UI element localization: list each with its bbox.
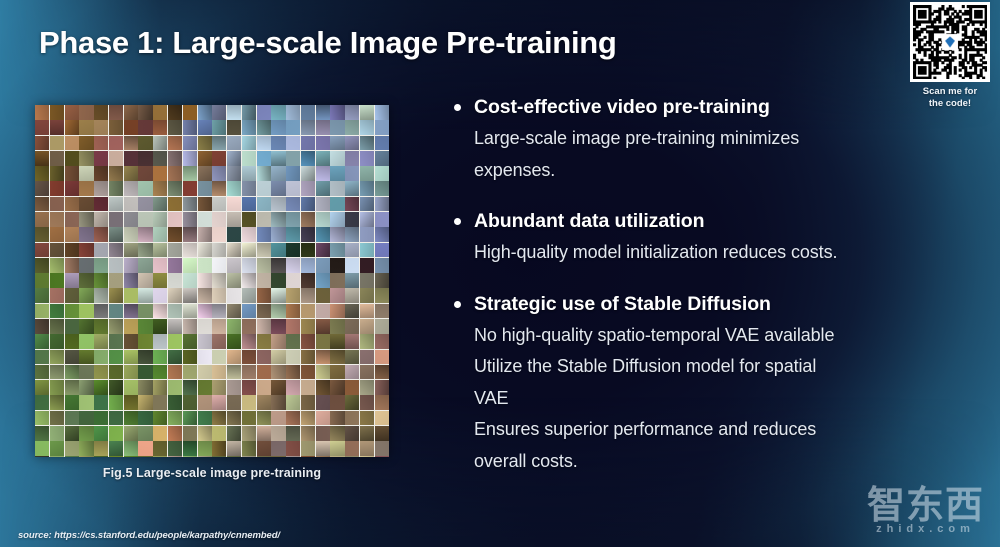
mosaic-thumbnail — [50, 166, 64, 181]
mosaic-thumbnail — [227, 365, 241, 380]
mosaic-thumbnail — [375, 456, 389, 457]
mosaic-thumbnail — [330, 350, 344, 365]
mosaic-thumbnail — [316, 288, 330, 303]
mosaic-thumbnail — [168, 441, 182, 456]
mosaic-thumbnail — [65, 243, 79, 258]
mosaic-thumbnail — [271, 304, 285, 319]
mosaic-thumbnail — [65, 334, 79, 349]
mosaic-thumbnail — [183, 319, 197, 334]
mosaic-thumbnail — [183, 334, 197, 349]
mosaic-thumbnail — [153, 334, 167, 349]
mosaic-thumbnail — [168, 365, 182, 380]
mosaic-thumbnail — [360, 197, 374, 212]
mosaic-thumbnail — [212, 426, 226, 441]
mosaic-thumbnail — [375, 258, 389, 273]
qr-caption-line-1: Scan me for — [906, 86, 994, 98]
mosaic-thumbnail — [109, 395, 123, 410]
mosaic-thumbnail — [360, 441, 374, 456]
mosaic-thumbnail — [35, 258, 49, 273]
mosaic-thumbnail — [153, 120, 167, 135]
mosaic-thumbnail — [345, 426, 359, 441]
mosaic-thumbnail — [153, 319, 167, 334]
mosaic-thumbnail — [212, 243, 226, 258]
mosaic-thumbnail — [227, 243, 241, 258]
mosaic-thumbnail — [212, 197, 226, 212]
mosaic-thumbnail — [168, 105, 182, 120]
mosaic-thumbnail — [375, 319, 389, 334]
mosaic-thumbnail — [360, 380, 374, 395]
mosaic-thumbnail — [65, 395, 79, 410]
mosaic-thumbnail — [286, 411, 300, 426]
mosaic-thumbnail — [183, 288, 197, 303]
mosaic-thumbnail — [94, 288, 108, 303]
mosaic-thumbnail — [271, 151, 285, 166]
mosaic-thumbnail — [330, 136, 344, 151]
mosaic-thumbnail — [375, 334, 389, 349]
mosaic-thumbnail — [79, 151, 93, 166]
figure-caption: Fig.5 Large-scale image pre-training — [35, 466, 389, 480]
bullet-body-line: overall costs. — [452, 446, 972, 478]
mosaic-thumbnail — [271, 411, 285, 426]
mosaic-thumbnail — [65, 350, 79, 365]
mosaic-thumbnail — [330, 227, 344, 242]
bullet-heading-text: Strategic use of Stable Diffusion — [474, 293, 771, 315]
qr-code-card[interactable] — [910, 2, 990, 82]
mosaic-thumbnail — [138, 258, 152, 273]
mosaic-thumbnail — [35, 212, 49, 227]
mosaic-thumbnail — [50, 105, 64, 120]
mosaic-thumbnail — [183, 380, 197, 395]
mosaic-thumbnail — [286, 181, 300, 196]
mosaic-thumbnail — [79, 105, 93, 120]
mosaic-thumbnail — [153, 181, 167, 196]
bullet-heading: Strategic use of Stable Diffusion — [452, 291, 972, 317]
mosaic-thumbnail — [35, 288, 49, 303]
mosaic-thumbnail — [153, 105, 167, 120]
mosaic-thumbnail — [286, 136, 300, 151]
mosaic-thumbnail — [35, 197, 49, 212]
mosaic-thumbnail — [109, 304, 123, 319]
mosaic-thumbnail — [79, 197, 93, 212]
mosaic-thumbnail — [124, 411, 138, 426]
mosaic-thumbnail — [242, 227, 256, 242]
mosaic-thumbnail — [271, 181, 285, 196]
mosaic-thumbnail — [168, 304, 182, 319]
mosaic-thumbnail — [316, 395, 330, 410]
mosaic-thumbnail — [168, 212, 182, 227]
mosaic-thumbnail — [109, 181, 123, 196]
mosaic-thumbnail — [257, 441, 271, 456]
mosaic-thumbnail — [227, 151, 241, 166]
mosaic-thumbnail — [168, 227, 182, 242]
mosaic-thumbnail — [242, 166, 256, 181]
mosaic-thumbnail — [138, 166, 152, 181]
mosaic-thumbnail — [35, 365, 49, 380]
mosaic-thumbnail — [286, 441, 300, 456]
mosaic-thumbnail — [79, 426, 93, 441]
mosaic-thumbnail — [375, 441, 389, 456]
mosaic-thumbnail — [124, 350, 138, 365]
mosaic-thumbnail — [360, 456, 374, 457]
mosaic-thumbnail — [301, 227, 315, 242]
mosaic-thumbnail — [153, 258, 167, 273]
mosaic-thumbnail — [242, 380, 256, 395]
mosaic-thumbnail — [301, 456, 315, 457]
mosaic-thumbnail — [79, 319, 93, 334]
mosaic-thumbnail — [345, 243, 359, 258]
mosaic-thumbnail — [301, 197, 315, 212]
mosaic-thumbnail — [257, 334, 271, 349]
mosaic-thumbnail — [257, 273, 271, 288]
mosaic-thumbnail — [50, 350, 64, 365]
mosaic-thumbnail — [198, 136, 212, 151]
mosaic-thumbnail — [227, 395, 241, 410]
bullet-dot-icon — [454, 301, 461, 308]
mosaic-thumbnail — [345, 304, 359, 319]
mosaic-thumbnail — [153, 304, 167, 319]
mosaic-thumbnail — [345, 350, 359, 365]
mosaic-thumbnail — [183, 136, 197, 151]
mosaic-thumbnail — [242, 350, 256, 365]
mosaic-thumbnail — [153, 136, 167, 151]
bullet-list: Cost-effective video pre-training Large-… — [452, 94, 972, 477]
mosaic-thumbnail — [360, 227, 374, 242]
mosaic-thumbnail — [124, 273, 138, 288]
mosaic-thumbnail — [345, 395, 359, 410]
mosaic-thumbnail — [109, 456, 123, 457]
mosaic-thumbnail — [138, 227, 152, 242]
mosaic-thumbnail — [153, 288, 167, 303]
mosaic-thumbnail — [375, 380, 389, 395]
mosaic-thumbnail — [94, 304, 108, 319]
mosaic-thumbnail — [286, 350, 300, 365]
mosaic-thumbnail — [316, 319, 330, 334]
mosaic-thumbnail — [79, 441, 93, 456]
mosaic-thumbnail — [360, 166, 374, 181]
mosaic-thumbnail — [212, 181, 226, 196]
mosaic-thumbnail — [79, 365, 93, 380]
mosaic-thumbnail — [212, 288, 226, 303]
mosaic-thumbnail — [65, 136, 79, 151]
mosaic-thumbnail — [316, 273, 330, 288]
mosaic-thumbnail — [198, 151, 212, 166]
mosaic-thumbnail — [109, 258, 123, 273]
mosaic-thumbnail — [138, 105, 152, 120]
mosaic-thumbnail — [360, 105, 374, 120]
bullet-body-line: Utilize the Stable Diffusion model for s… — [452, 351, 972, 383]
mosaic-thumbnail — [183, 166, 197, 181]
mosaic-thumbnail — [94, 136, 108, 151]
mosaic-thumbnail — [286, 258, 300, 273]
mosaic-thumbnail — [183, 151, 197, 166]
mosaic-thumbnail — [375, 166, 389, 181]
mosaic-thumbnail — [375, 212, 389, 227]
mosaic-thumbnail — [271, 380, 285, 395]
mosaic-thumbnail — [330, 197, 344, 212]
mosaic-thumbnail — [94, 273, 108, 288]
mosaic-thumbnail — [109, 380, 123, 395]
mosaic-thumbnail — [271, 105, 285, 120]
mosaic-thumbnail — [257, 288, 271, 303]
mosaic-thumbnail — [124, 380, 138, 395]
mosaic-thumbnail — [227, 166, 241, 181]
mosaic-thumbnail — [124, 227, 138, 242]
mosaic-thumbnail — [168, 120, 182, 135]
mosaic-thumbnail — [198, 120, 212, 135]
mosaic-thumbnail — [301, 319, 315, 334]
mosaic-thumbnail — [212, 273, 226, 288]
mosaic-thumbnail — [257, 304, 271, 319]
mosaic-thumbnail — [375, 136, 389, 151]
mosaic-thumbnail — [138, 212, 152, 227]
mosaic-thumbnail — [227, 212, 241, 227]
mosaic-thumbnail — [316, 380, 330, 395]
mosaic-thumbnail — [183, 258, 197, 273]
mosaic-thumbnail — [50, 227, 64, 242]
mosaic-thumbnail — [35, 334, 49, 349]
mosaic-thumbnail — [35, 227, 49, 242]
mosaic-thumbnail — [94, 212, 108, 227]
mosaic-thumbnail — [242, 197, 256, 212]
mosaic-thumbnail — [168, 197, 182, 212]
mosaic-thumbnail — [301, 136, 315, 151]
mosaic-thumbnail — [271, 319, 285, 334]
mosaic-thumbnail — [168, 166, 182, 181]
mosaic-thumbnail — [330, 243, 344, 258]
mosaic-thumbnail — [301, 166, 315, 181]
mosaic-thumbnail — [301, 243, 315, 258]
mosaic-thumbnail — [345, 181, 359, 196]
mosaic-thumbnail — [79, 212, 93, 227]
mosaic-thumbnail — [168, 258, 182, 273]
mosaic-thumbnail — [212, 105, 226, 120]
mosaic-thumbnail — [79, 380, 93, 395]
mosaic-thumbnail — [227, 258, 241, 273]
mosaic-thumbnail — [257, 395, 271, 410]
mosaic-thumbnail — [138, 350, 152, 365]
qr-code-icon[interactable] — [913, 5, 987, 79]
mosaic-thumbnail — [168, 243, 182, 258]
mosaic-thumbnail — [138, 151, 152, 166]
mosaic-thumbnail — [375, 411, 389, 426]
mosaic-thumbnail — [124, 426, 138, 441]
bullet-group-1: Cost-effective video pre-training Large-… — [452, 94, 972, 186]
mosaic-thumbnail — [271, 120, 285, 135]
mosaic-thumbnail — [242, 258, 256, 273]
mosaic-thumbnail — [138, 334, 152, 349]
mosaic-thumbnail — [242, 304, 256, 319]
mosaic-thumbnail — [124, 136, 138, 151]
mosaic-thumbnail — [301, 273, 315, 288]
mosaic-thumbnail — [227, 288, 241, 303]
mosaic-thumbnail — [94, 166, 108, 181]
mosaic-thumbnail — [212, 319, 226, 334]
mosaic-thumbnail — [79, 273, 93, 288]
mosaic-thumbnail — [330, 105, 344, 120]
mosaic-thumbnail — [271, 334, 285, 349]
mosaic-thumbnail — [183, 120, 197, 135]
mosaic-thumbnail — [330, 166, 344, 181]
mosaic-thumbnail — [301, 304, 315, 319]
bullet-body-line: VAE — [452, 383, 972, 415]
mosaic-thumbnail — [183, 105, 197, 120]
mosaic-thumbnail — [227, 227, 241, 242]
mosaic-thumbnail — [330, 319, 344, 334]
mosaic-thumbnail — [257, 197, 271, 212]
mosaic-thumbnail — [138, 273, 152, 288]
cnn-embedding-image-mosaic — [35, 105, 389, 457]
mosaic-thumbnail — [79, 411, 93, 426]
mosaic-thumbnail — [138, 136, 152, 151]
mosaic-thumbnail — [124, 365, 138, 380]
mosaic-thumbnail — [360, 350, 374, 365]
mosaic-thumbnail — [198, 334, 212, 349]
mosaic-thumbnail — [168, 319, 182, 334]
mosaic-thumbnail — [345, 380, 359, 395]
mosaic-thumbnail — [212, 212, 226, 227]
mosaic-thumbnail — [345, 258, 359, 273]
bullet-heading: Abundant data utilization — [452, 208, 972, 234]
mosaic-thumbnail — [212, 380, 226, 395]
mosaic-thumbnail — [109, 411, 123, 426]
mosaic-thumbnail — [375, 151, 389, 166]
presentation-slide: Phase 1: Large-scale Image Pre-training … — [0, 0, 1000, 547]
mosaic-grid — [35, 105, 389, 457]
mosaic-thumbnail — [316, 350, 330, 365]
mosaic-thumbnail — [242, 395, 256, 410]
mosaic-thumbnail — [94, 319, 108, 334]
mosaic-thumbnail — [345, 197, 359, 212]
mosaic-thumbnail — [286, 120, 300, 135]
mosaic-thumbnail — [227, 304, 241, 319]
mosaic-thumbnail — [35, 151, 49, 166]
mosaic-thumbnail — [35, 243, 49, 258]
mosaic-thumbnail — [257, 105, 271, 120]
qr-code-block[interactable]: Scan me for the code! — [906, 2, 994, 110]
mosaic-thumbnail — [35, 456, 49, 457]
mosaic-thumbnail — [301, 105, 315, 120]
mosaic-thumbnail — [109, 319, 123, 334]
mosaic-thumbnail — [271, 365, 285, 380]
mosaic-thumbnail — [153, 273, 167, 288]
mosaic-thumbnail — [65, 304, 79, 319]
mosaic-thumbnail — [35, 426, 49, 441]
mosaic-thumbnail — [79, 334, 93, 349]
mosaic-thumbnail — [138, 243, 152, 258]
mosaic-thumbnail — [138, 288, 152, 303]
mosaic-thumbnail — [109, 334, 123, 349]
mosaic-thumbnail — [50, 258, 64, 273]
mosaic-thumbnail — [35, 273, 49, 288]
mosaic-thumbnail — [375, 105, 389, 120]
mosaic-thumbnail — [345, 273, 359, 288]
mosaic-thumbnail — [316, 426, 330, 441]
mosaic-thumbnail — [242, 411, 256, 426]
mosaic-thumbnail — [65, 426, 79, 441]
mosaic-thumbnail — [35, 411, 49, 426]
mosaic-thumbnail — [124, 243, 138, 258]
mosaic-thumbnail — [271, 136, 285, 151]
mosaic-thumbnail — [124, 304, 138, 319]
mosaic-thumbnail — [35, 304, 49, 319]
mosaic-thumbnail — [212, 350, 226, 365]
mosaic-thumbnail — [153, 426, 167, 441]
mosaic-thumbnail — [360, 181, 374, 196]
mosaic-thumbnail — [124, 288, 138, 303]
mosaic-thumbnail — [316, 166, 330, 181]
mosaic-thumbnail — [257, 120, 271, 135]
mosaic-thumbnail — [183, 212, 197, 227]
mosaic-thumbnail — [65, 166, 79, 181]
bullet-body-line: expenses. — [452, 155, 972, 187]
mosaic-thumbnail — [65, 319, 79, 334]
mosaic-thumbnail — [286, 212, 300, 227]
mosaic-thumbnail — [375, 227, 389, 242]
mosaic-thumbnail — [35, 105, 49, 120]
mosaic-thumbnail — [94, 105, 108, 120]
mosaic-thumbnail — [109, 441, 123, 456]
mosaic-thumbnail — [168, 380, 182, 395]
mosaic-thumbnail — [286, 426, 300, 441]
mosaic-thumbnail — [330, 380, 344, 395]
mosaic-thumbnail — [79, 258, 93, 273]
mosaic-thumbnail — [330, 151, 344, 166]
mosaic-thumbnail — [65, 258, 79, 273]
mosaic-thumbnail — [330, 334, 344, 349]
mosaic-thumbnail — [109, 426, 123, 441]
mosaic-thumbnail — [286, 243, 300, 258]
mosaic-thumbnail — [124, 151, 138, 166]
mosaic-thumbnail — [50, 181, 64, 196]
mosaic-thumbnail — [94, 441, 108, 456]
mosaic-thumbnail — [94, 395, 108, 410]
mosaic-thumbnail — [375, 288, 389, 303]
mosaic-thumbnail — [316, 105, 330, 120]
mosaic-thumbnail — [79, 227, 93, 242]
mosaic-thumbnail — [212, 227, 226, 242]
mosaic-thumbnail — [183, 304, 197, 319]
mosaic-thumbnail — [50, 334, 64, 349]
mosaic-thumbnail — [360, 151, 374, 166]
mosaic-thumbnail — [257, 166, 271, 181]
mosaic-thumbnail — [316, 120, 330, 135]
source-citation: source: https://cs.stanford.edu/people/k… — [18, 530, 280, 541]
mosaic-thumbnail — [316, 411, 330, 426]
mosaic-thumbnail — [227, 441, 241, 456]
mosaic-thumbnail — [316, 197, 330, 212]
mosaic-thumbnail — [65, 212, 79, 227]
mosaic-thumbnail — [301, 212, 315, 227]
bullet-body-line: No high-quality spatio-temporal VAE avai… — [452, 320, 972, 352]
mosaic-thumbnail — [375, 304, 389, 319]
mosaic-thumbnail — [316, 456, 330, 457]
mosaic-thumbnail — [242, 365, 256, 380]
mosaic-thumbnail — [257, 411, 271, 426]
mosaic-thumbnail — [50, 319, 64, 334]
mosaic-thumbnail — [286, 456, 300, 457]
bullet-heading-text: Cost-effective video pre-training — [474, 96, 770, 118]
mosaic-thumbnail — [375, 120, 389, 135]
mosaic-thumbnail — [79, 304, 93, 319]
mosaic-thumbnail — [271, 456, 285, 457]
mosaic-thumbnail — [345, 441, 359, 456]
mosaic-thumbnail — [360, 304, 374, 319]
mosaic-thumbnail — [330, 212, 344, 227]
mosaic-thumbnail — [79, 120, 93, 135]
mosaic-thumbnail — [109, 350, 123, 365]
mosaic-thumbnail — [257, 243, 271, 258]
mosaic-thumbnail — [227, 426, 241, 441]
